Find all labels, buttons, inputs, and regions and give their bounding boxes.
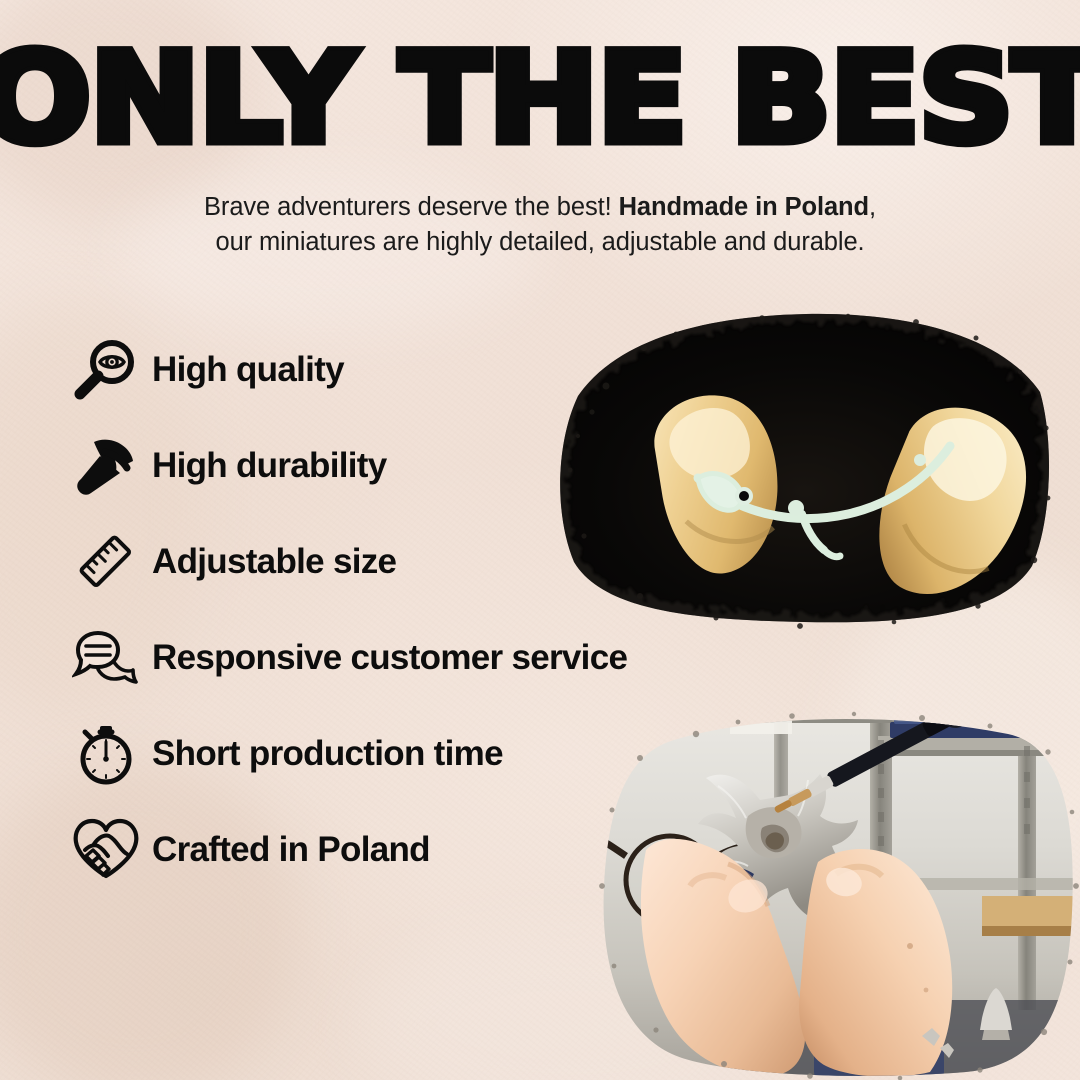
heart-handshake-icon — [60, 804, 152, 896]
feature-label: High durability — [152, 446, 387, 486]
page-title: ONLY THE BEST — [0, 36, 1080, 162]
feature-list: High quality High durability — [60, 322, 800, 898]
subtitle: Brave adventurers deserve the best! Hand… — [90, 190, 990, 260]
list-item: Crafted in Poland — [60, 802, 800, 898]
subtitle-comma: , — [869, 193, 876, 221]
subtitle-line-2: our miniatures are highly detailed, adju… — [215, 228, 864, 256]
ruler-icon — [60, 516, 152, 608]
stopwatch-icon — [60, 708, 152, 800]
list-item: Adjustable size — [60, 514, 800, 610]
feature-label: High quality — [152, 350, 344, 390]
list-item: High quality — [60, 322, 800, 418]
feature-label: Crafted in Poland — [152, 830, 430, 870]
subtitle-lead: Brave adventurers deserve the best! — [204, 193, 619, 221]
hammer-icon — [60, 420, 152, 512]
magnifier-eye-icon — [60, 324, 152, 416]
list-item: Short production time — [60, 706, 800, 802]
subtitle-emphasis: Handmade in Poland — [619, 193, 869, 221]
chat-bubbles-icon — [60, 612, 152, 704]
feature-label: Adjustable size — [152, 542, 396, 582]
feature-label: Short production time — [152, 734, 503, 774]
list-item: Responsive customer service — [60, 610, 800, 706]
feature-label: Responsive customer service — [152, 638, 627, 678]
list-item: High durability — [60, 418, 800, 514]
poster-canvas: ONLY THE BEST Brave adventurers deserve … — [0, 0, 1080, 1080]
